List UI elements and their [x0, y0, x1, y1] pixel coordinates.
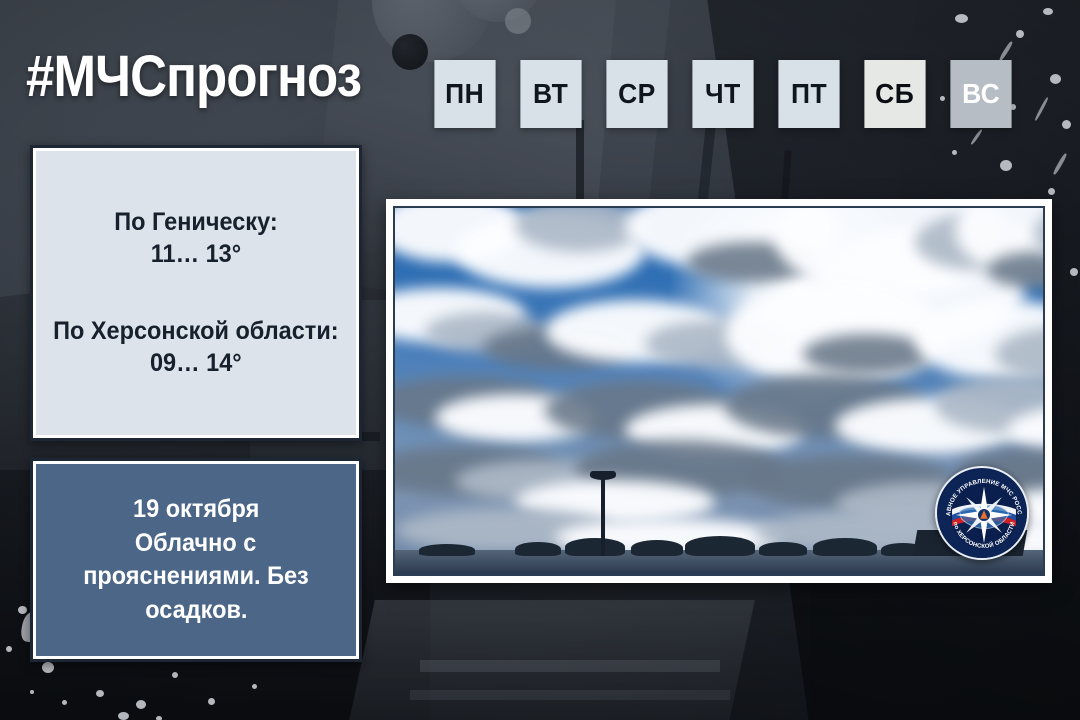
weekday-chip-tue[interactable]: ВТ — [520, 60, 581, 128]
weekday-chip-label: СБ — [875, 78, 914, 110]
region-temperature-value: 09… 14° — [53, 347, 338, 380]
weekday-chip-sun[interactable]: ВС — [950, 60, 1011, 128]
city-temperature-block: По Геническу: 11… 13° — [109, 207, 283, 270]
weekday-chip-sat[interactable]: СБ — [864, 60, 925, 128]
forecast-description-panel: 19 октября Облачно с прояснениями. Без о… — [30, 458, 362, 662]
weekday-chip-wed[interactable]: СР — [606, 60, 667, 128]
lamppost-silhouette — [601, 476, 605, 556]
region-label: По Херсонской области: — [53, 316, 338, 347]
city-label: По Геническу: — [114, 207, 277, 238]
city-temperature-value: 11… 13° — [114, 238, 277, 271]
forecast-date: 19 октября — [133, 493, 259, 527]
sky-photo-card: ГЛАВНОЕ УПРАВЛЕНИЕ МЧС РОССИИ по ХЕРСОНС… — [386, 199, 1052, 583]
lamppost-head-icon — [590, 471, 616, 480]
weekday-chip-label: ВТ — [533, 78, 568, 110]
weekday-chip-label: СР — [618, 78, 656, 110]
forecast-text-line-1: Облачно с — [135, 527, 256, 561]
weekday-chip-mon[interactable]: ПН — [434, 60, 495, 128]
region-temperature-block: По Херсонской области: 09… 14° — [44, 316, 348, 379]
forecast-text-line-2: прояснениями. Без — [83, 560, 309, 594]
weekday-chip-fri[interactable]: ПТ — [778, 60, 839, 128]
temperature-panel: По Геническу: 11… 13° По Херсонской обла… — [30, 145, 362, 441]
weather-forecast-poster: #МЧСпрогноз ПН ВТ СР ЧТ ПТ СБ ВС По Гени… — [0, 0, 1080, 720]
forecast-text-line-3: осадков. — [145, 594, 247, 628]
cloudy-sky-photo: ГЛАВНОЕ УПРАВЛЕНИЕ МЧС РОССИИ по ХЕРСОНС… — [393, 206, 1045, 576]
weekday-chip-label: ПТ — [791, 78, 827, 110]
weekday-chip-label: ЧТ — [705, 78, 741, 110]
weekday-chip-label: ВС — [962, 78, 1000, 110]
page-title: #МЧСпрогноз — [26, 48, 361, 106]
mchs-emblem: ГЛАВНОЕ УПРАВЛЕНИЕ МЧС РОССИИ по ХЕРСОНС… — [935, 466, 1029, 560]
weekday-chip-label: ПН — [445, 78, 484, 110]
weekday-selector: ПН ВТ СР ЧТ ПТ СБ ВС — [431, 60, 1015, 128]
weekday-chip-thu[interactable]: ЧТ — [692, 60, 753, 128]
